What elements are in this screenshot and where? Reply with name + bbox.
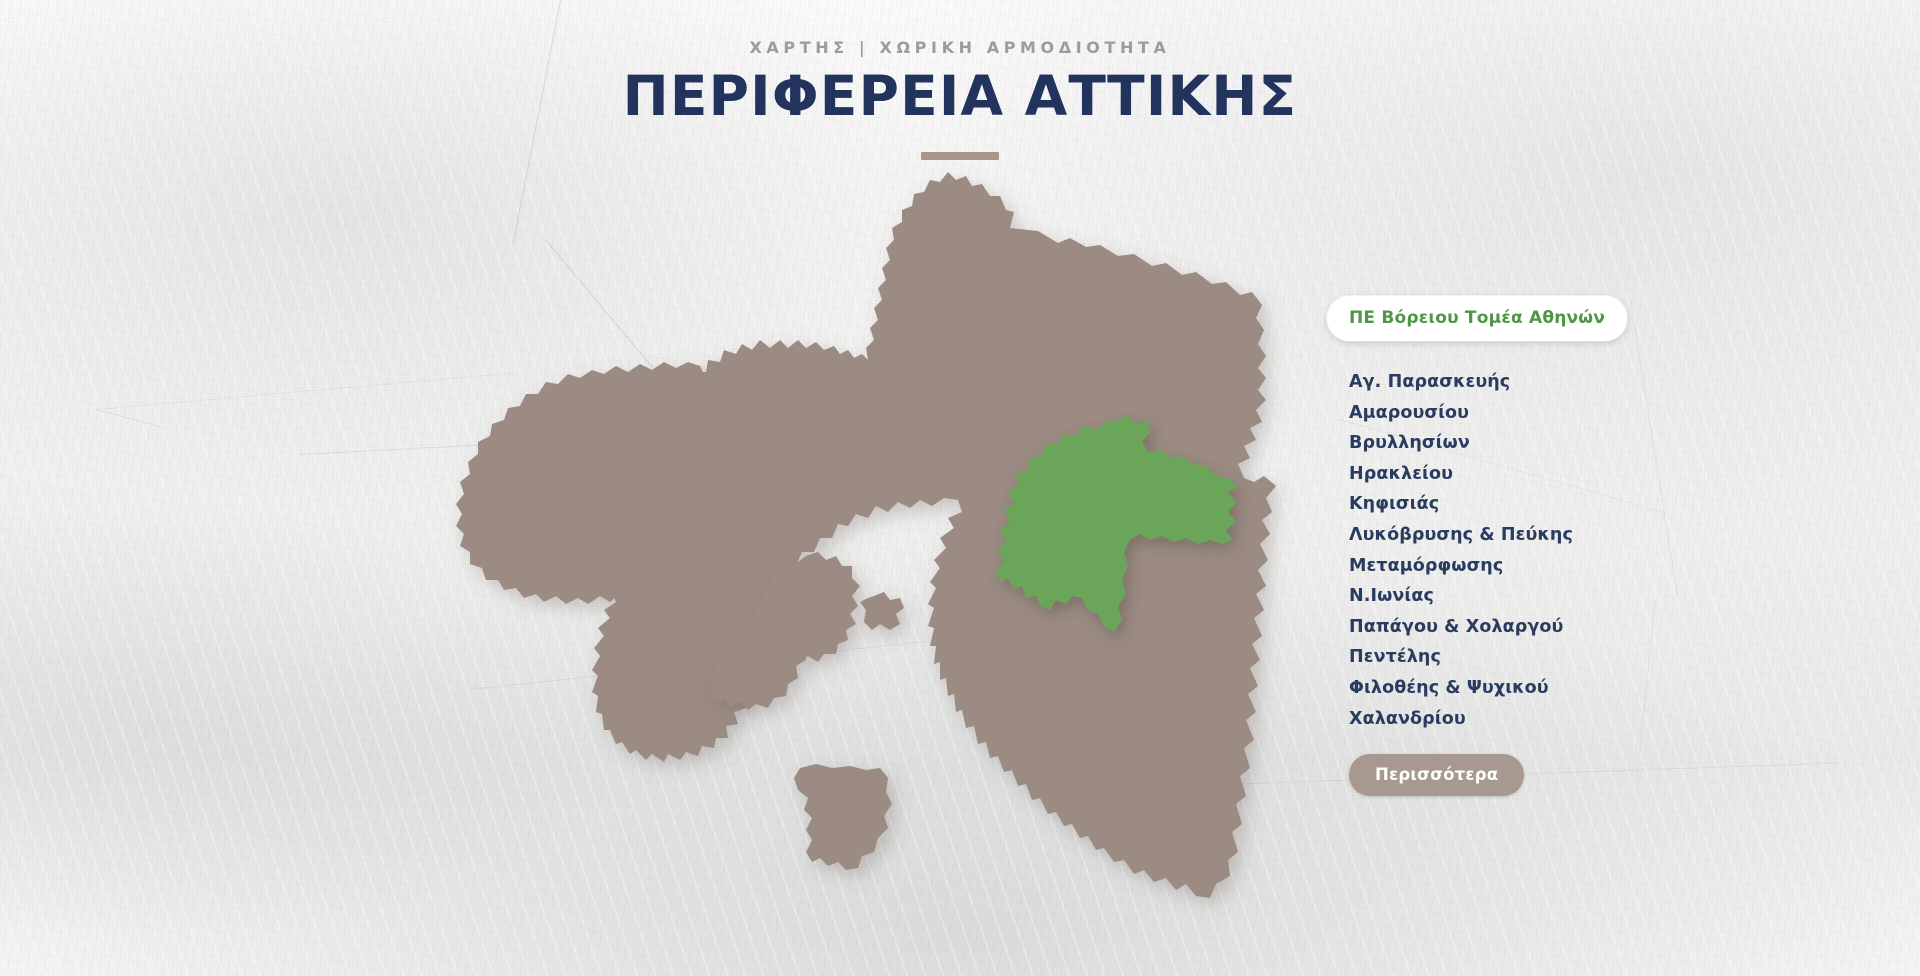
list-item[interactable]: Ν.Ιωνίας bbox=[1349, 581, 1657, 612]
municipality-list: Αγ. Παρασκευής Αμαρουσίου Βρυλλησίων Ηρα… bbox=[1349, 367, 1657, 734]
map-island-aegina bbox=[794, 764, 892, 870]
title-divider bbox=[921, 152, 999, 160]
list-item[interactable]: Λυκόβρυσης & Πεύκης bbox=[1349, 520, 1657, 551]
list-item[interactable]: Ηρακλείου bbox=[1349, 459, 1657, 490]
more-button[interactable]: Περισσότερα bbox=[1349, 754, 1524, 796]
page-kicker: ΧΑΡΤΗΣ | ΧΩΡΙΚΗ ΑΡΜΟΔΙΟΤΗΤΑ bbox=[0, 40, 1920, 56]
list-item[interactable]: Πεντέλης bbox=[1349, 642, 1657, 673]
legend-panel: ΠΕ Βόρειου Τομέα Αθηνών Αγ. Παρασκευής Α… bbox=[1327, 296, 1657, 796]
legend-badge-regional-unit[interactable]: ΠΕ Βόρειου Τομέα Αθηνών bbox=[1327, 296, 1627, 341]
list-item[interactable]: Αγ. Παρασκευής bbox=[1349, 367, 1657, 398]
list-item[interactable]: Φιλοθέης & Ψυχικού bbox=[1349, 673, 1657, 704]
list-item[interactable]: Αμαρουσίου bbox=[1349, 398, 1657, 429]
list-item[interactable]: Κηφισιάς bbox=[1349, 489, 1657, 520]
list-item[interactable]: Μεταμόρφωσης bbox=[1349, 551, 1657, 582]
list-item[interactable]: Χαλανδρίου bbox=[1349, 704, 1657, 735]
list-item[interactable]: Βρυλλησίων bbox=[1349, 428, 1657, 459]
list-item[interactable]: Παπάγου & Χολαργού bbox=[1349, 612, 1657, 643]
page-root: ΧΑΡΤΗΣ | ΧΩΡΙΚΗ ΑΡΜΟΔΙΟΤΗΤΑ ΠΕΡΙΦΕΡΕΙΑ Α… bbox=[0, 0, 1920, 976]
page-title: ΠΕΡΙΦΕΡΕΙΑ ΑΤΤΙΚΗΣ bbox=[0, 66, 1920, 128]
page-header: ΧΑΡΤΗΣ | ΧΩΡΙΚΗ ΑΡΜΟΔΙΟΤΗΤΑ ΠΕΡΙΦΕΡΕΙΑ Α… bbox=[0, 40, 1920, 160]
